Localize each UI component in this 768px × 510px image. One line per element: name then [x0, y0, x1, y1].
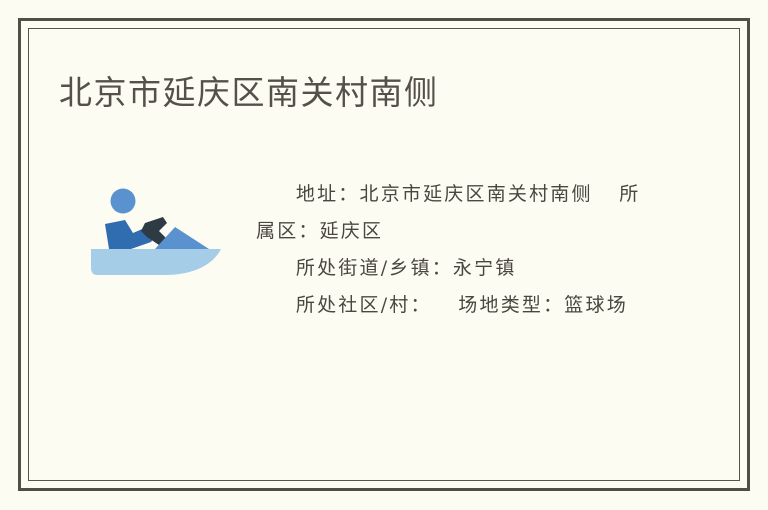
info-card: 北京市延庆区南关村南侧 地址：北京市延庆区南关村南侧所属区：延庆区 所处街道/乡…: [18, 18, 750, 491]
detail-row-community: 所处社区/村：场地类型：篮球场: [256, 287, 661, 324]
person-rowing-boat-icon: [81, 179, 231, 284]
detail-row-address: 地址：北京市延庆区南关村南侧所属区：延庆区: [256, 176, 661, 250]
card-content: 地址：北京市延庆区南关村南侧所属区：延庆区 所处街道/乡镇：永宁镇 所处社区/村…: [51, 151, 717, 458]
page-title: 北京市延庆区南关村南侧: [59, 66, 439, 114]
detail-street-text: 所处街道/乡镇：永宁镇: [296, 257, 517, 279]
detail-community-text: 所处社区/村：: [296, 294, 432, 316]
venue-detail-list: 地址：北京市延庆区南关村南侧所属区：延庆区 所处街道/乡镇：永宁镇 所处社区/村…: [256, 176, 661, 324]
detail-row-street: 所处街道/乡镇：永宁镇: [256, 250, 661, 287]
detail-venue-type-text: 场地类型：篮球场: [458, 294, 628, 316]
detail-address-text: 地址：北京市延庆区南关村南侧: [296, 183, 593, 205]
